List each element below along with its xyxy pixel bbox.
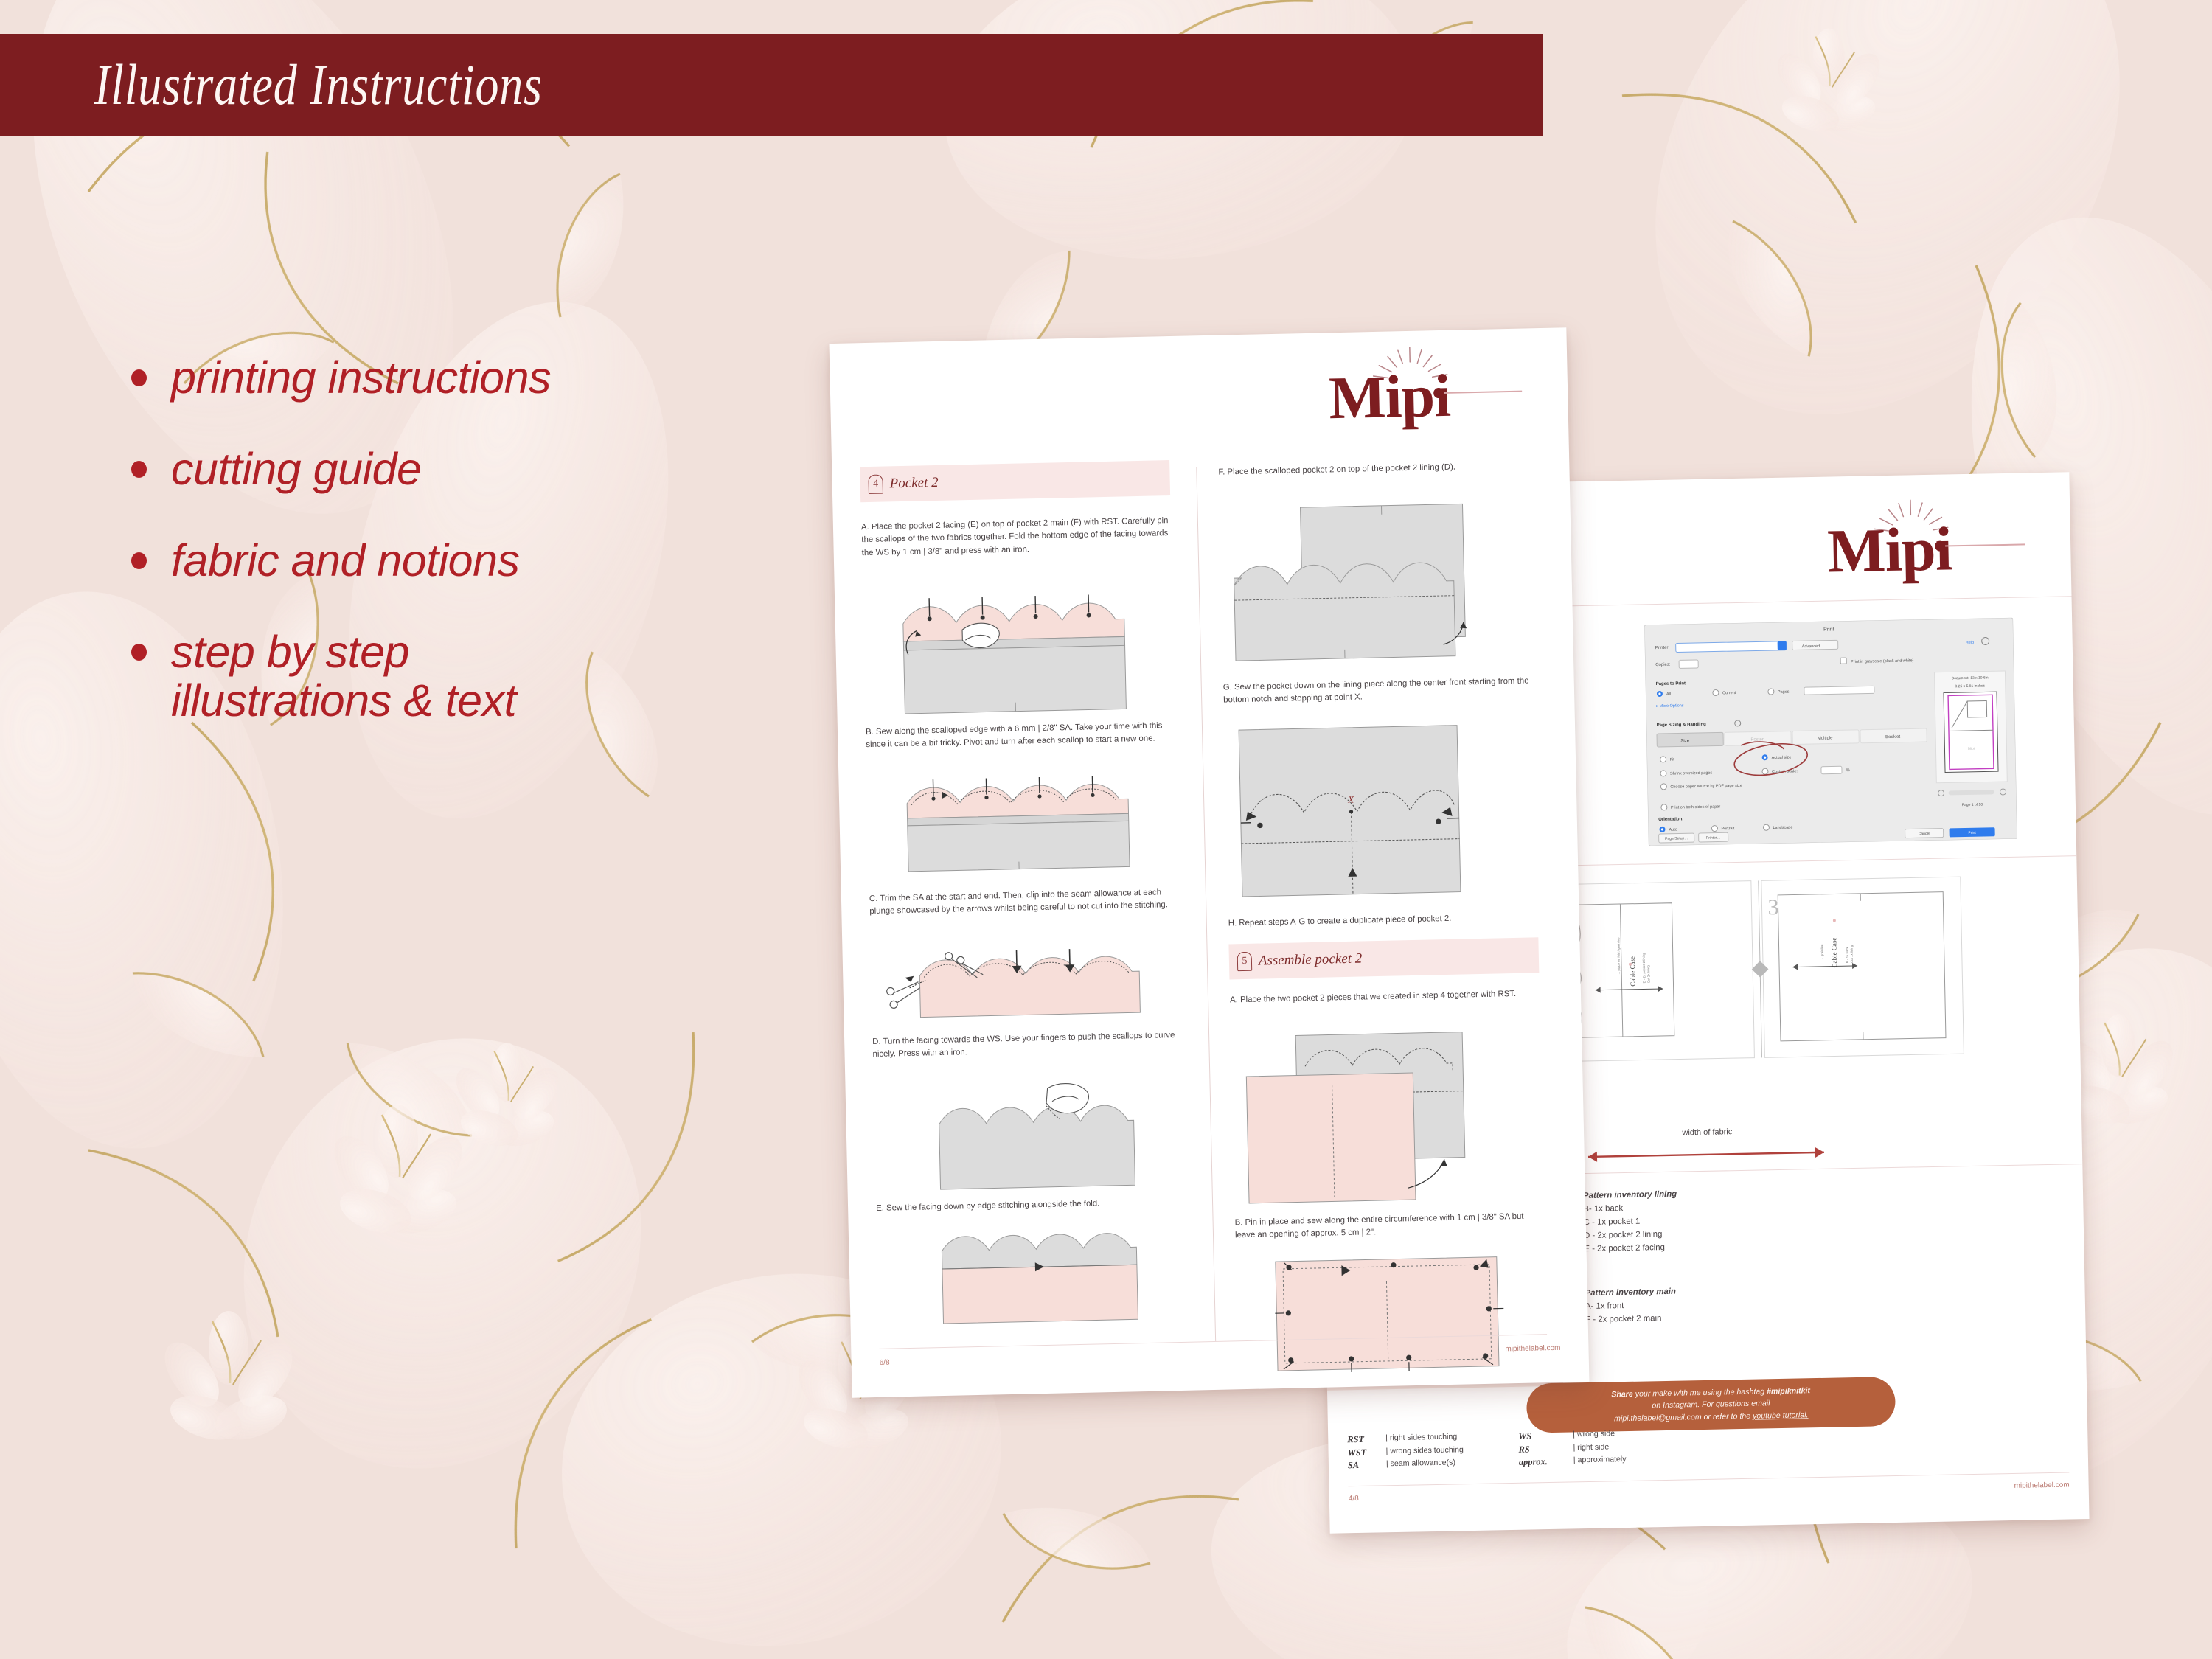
svg-text:3: 3	[1767, 895, 1779, 919]
svg-text:%: %	[1846, 768, 1850, 773]
list-item: printing instructions	[131, 354, 869, 403]
glossary-abbr: SA	[1348, 1460, 1359, 1470]
svg-text:Cable Case: Cable Case	[1629, 956, 1637, 987]
website-footer: mipithelabel.com	[1505, 1344, 1560, 1354]
glossary-abbr: approx.	[1519, 1456, 1548, 1467]
svg-text:▸ More Options: ▸ More Options	[1656, 703, 1684, 709]
svg-text:Mipi: Mipi	[1968, 747, 1975, 751]
pattern-inventory-main: Pattern inventory main A- 1x front F - 2…	[1585, 1282, 1829, 1326]
banner-bold: Share	[1611, 1390, 1633, 1399]
svg-text:Booklet: Booklet	[1885, 735, 1900, 740]
page-number: 6/8	[880, 1359, 890, 1367]
width-of-fabric-label: width of fabric	[1611, 1126, 1803, 1138]
step-header-assemble-pocket-2: 5 Assemble pocket 2	[1228, 937, 1539, 979]
step-number: 5	[1237, 952, 1253, 971]
svg-text:Actual size: Actual size	[1772, 756, 1792, 761]
svg-text:D - 2x pocket 2 lining: D - 2x pocket 2 lining	[1642, 953, 1646, 984]
glossary-abbr: RS	[1518, 1444, 1529, 1454]
step-paragraph-b: B. Sew along the scalloped edge with a 6…	[866, 720, 1176, 752]
svg-text:Page Setup…: Page Setup…	[1665, 836, 1688, 841]
mipi-logo: Mipi	[1826, 501, 2012, 586]
divider	[1348, 1472, 2069, 1486]
glossary: RST | right sides touching WS | wrong si…	[1347, 1429, 1627, 1473]
illustration-b-sew-scallop	[894, 769, 1155, 878]
youtube-tutorial-link[interactable]: youtube tutorial.	[1753, 1411, 1809, 1420]
list-item: cutting guide	[131, 445, 869, 494]
step-paragraph-c: C. Trim the SA at the start and end. The…	[869, 886, 1180, 919]
svg-text:Advanced: Advanced	[1802, 644, 1820, 649]
svg-text:Auto: Auto	[1669, 828, 1677, 832]
logo-rule	[1944, 543, 2025, 546]
svg-text:Print: Print	[1968, 831, 1976, 835]
glossary-def: | approximately	[1573, 1455, 1627, 1469]
svg-text:Printer…: Printer…	[1706, 835, 1721, 840]
svg-text:Orientation:: Orientation:	[1658, 817, 1683, 822]
step-paragraph-f: F. Place the scalloped pocket 2 on top o…	[1218, 459, 1528, 479]
illustration-two-pockets-rst	[1231, 1026, 1544, 1212]
glossary-abbr: WS	[1518, 1430, 1531, 1441]
svg-text:Cut 2x lining: Cut 2x lining	[1646, 965, 1650, 984]
svg-text:Fit: Fit	[1670, 758, 1675, 762]
illustration-a-iron-facing	[891, 582, 1152, 720]
svg-text:Current: Current	[1722, 691, 1736, 695]
illustration-c-clip-scissors	[879, 942, 1161, 1029]
share-banner[interactable]: Share your make with me using the hashta…	[1526, 1377, 1896, 1433]
column-divider	[1196, 467, 1216, 1341]
svg-text:Cable Case: Cable Case	[1830, 938, 1838, 968]
svg-text:Print: Print	[1823, 627, 1834, 632]
svg-text:B - 1x back: B - 1x back	[1846, 946, 1849, 963]
step-paragraph-d: D. Turn the facing towards the WS. Use y…	[872, 1029, 1183, 1062]
svg-text:Printer:: Printer:	[1655, 646, 1670, 650]
assemble-paragraph-b: B. Pin in place and sew along the entire…	[1234, 1210, 1545, 1242]
banner-text-1: your make with me using the hashtag	[1633, 1387, 1767, 1398]
glossary-def: | wrong side	[1573, 1429, 1626, 1443]
svg-text:Portrait: Portrait	[1721, 827, 1734, 831]
list-item: fabric and notions	[131, 537, 869, 585]
page-title: Illustrated Instructions	[94, 52, 543, 118]
website-footer: mipithelabel.com	[2014, 1481, 2070, 1489]
print-dialog-screenshot: Print Printer: Advanced Help Copies: Pri…	[1644, 618, 2017, 846]
svg-text:Pages to Print: Pages to Print	[1656, 681, 1686, 686]
banner-text-3: mipi.thelabel@gmail.com or refer to the	[1614, 1412, 1753, 1424]
svg-text:Cancel: Cancel	[1919, 832, 1930, 836]
pattern-inventory-lining: Pattern inventory lining B- 1x back C - …	[1583, 1185, 1828, 1256]
svg-text:Multiple: Multiple	[1818, 736, 1833, 740]
feature-bullet-list: printing instructions cutting guide fabr…	[131, 354, 869, 725]
step-number: 4	[868, 475, 883, 494]
svg-text:Shrink oversized pages: Shrink oversized pages	[1670, 771, 1713, 776]
step-paragraph-a: A. Place the pocket 2 facing (E) on top …	[861, 515, 1172, 560]
glossary-def: | seam allowance(s)	[1386, 1457, 1519, 1472]
svg-text:Landscape: Landscape	[1773, 826, 1792, 831]
step-label: Pocket 2	[889, 475, 938, 492]
svg-text:→ grainline: → grainline	[1820, 944, 1823, 961]
svg-text:→ place on fold / grainline: → place on fold / grainline	[1616, 937, 1621, 975]
step-paragraph-h: H. Repeat steps A-G to create a duplicat…	[1228, 911, 1538, 930]
bullet-dot-icon	[131, 461, 147, 478]
mipi-logo: Mipi	[1328, 349, 1514, 434]
svg-text:Size: Size	[1680, 739, 1689, 743]
bullet-dot-icon	[131, 552, 147, 569]
list-item-label: cutting guide	[171, 445, 421, 494]
svg-text:8.26 x 5.81 inches: 8.26 x 5.81 inches	[1955, 684, 1985, 689]
slide-title-bar: Illustrated Instructions	[0, 34, 1543, 136]
step-header-pocket-2: 4 Pocket 2	[860, 460, 1170, 502]
svg-text:Help: Help	[1966, 641, 1974, 645]
list-item-label: printing instructions	[171, 354, 551, 403]
svg-text:Print on both sides of paper: Print on both sides of paper	[1671, 804, 1721, 810]
logo-rule	[1442, 391, 1522, 394]
bullet-dot-icon	[131, 644, 147, 661]
glossary-def: | right side	[1573, 1442, 1626, 1456]
step-label: Assemble pocket 2	[1259, 951, 1363, 970]
point-x-label: X	[1347, 794, 1354, 805]
step-paragraph-g: G. Sew the pocket down on the lining pie…	[1223, 675, 1534, 707]
glossary-abbr: WST	[1347, 1447, 1366, 1457]
illustration-d-turn-facing	[901, 1074, 1161, 1198]
list-item-label: fabric and notions	[171, 537, 520, 585]
width-of-fabric-arrow	[1581, 1145, 1832, 1165]
illustration-g-sew-center-front: X	[1224, 719, 1537, 902]
page-number: 4/8	[1349, 1495, 1359, 1503]
step-paragraph-e: E. Sew the facing down by edge stitching…	[876, 1196, 1186, 1215]
svg-text:Copies:: Copies:	[1655, 663, 1671, 667]
banner-hashtag: #mipiknitkit	[1767, 1386, 1810, 1396]
svg-text:Page 1 of 10: Page 1 of 10	[1962, 803, 1983, 808]
bullet-dot-icon	[131, 369, 147, 386]
list-item: step by step illustrations & text	[131, 628, 869, 726]
list-item-label: step by step illustrations & text	[171, 628, 516, 726]
logo-wordmark: Mipi	[1826, 518, 1952, 582]
pattern-page-6[interactable]: Mipi 4 Pocket 2 A. Place the pocket 2 fa…	[829, 327, 1590, 1397]
svg-text:Pages: Pages	[1778, 690, 1790, 695]
illustration-e-edge-stitch	[905, 1221, 1165, 1330]
assemble-paragraph-a: A. Place the two pocket 2 pieces that we…	[1230, 987, 1540, 1006]
glossary-abbr: RST	[1347, 1434, 1364, 1444]
svg-text:Cut 1x lining: Cut 1x lining	[1850, 945, 1854, 963]
svg-text:Document: 13 x 10.6in: Document: 13 x 10.6in	[1952, 675, 1989, 681]
illustration-f-place-on-lining	[1219, 498, 1532, 671]
logo-wordmark: Mipi	[1328, 366, 1450, 429]
illustration-pin-circumference	[1262, 1252, 1528, 1382]
svg-text:All: All	[1666, 692, 1671, 697]
